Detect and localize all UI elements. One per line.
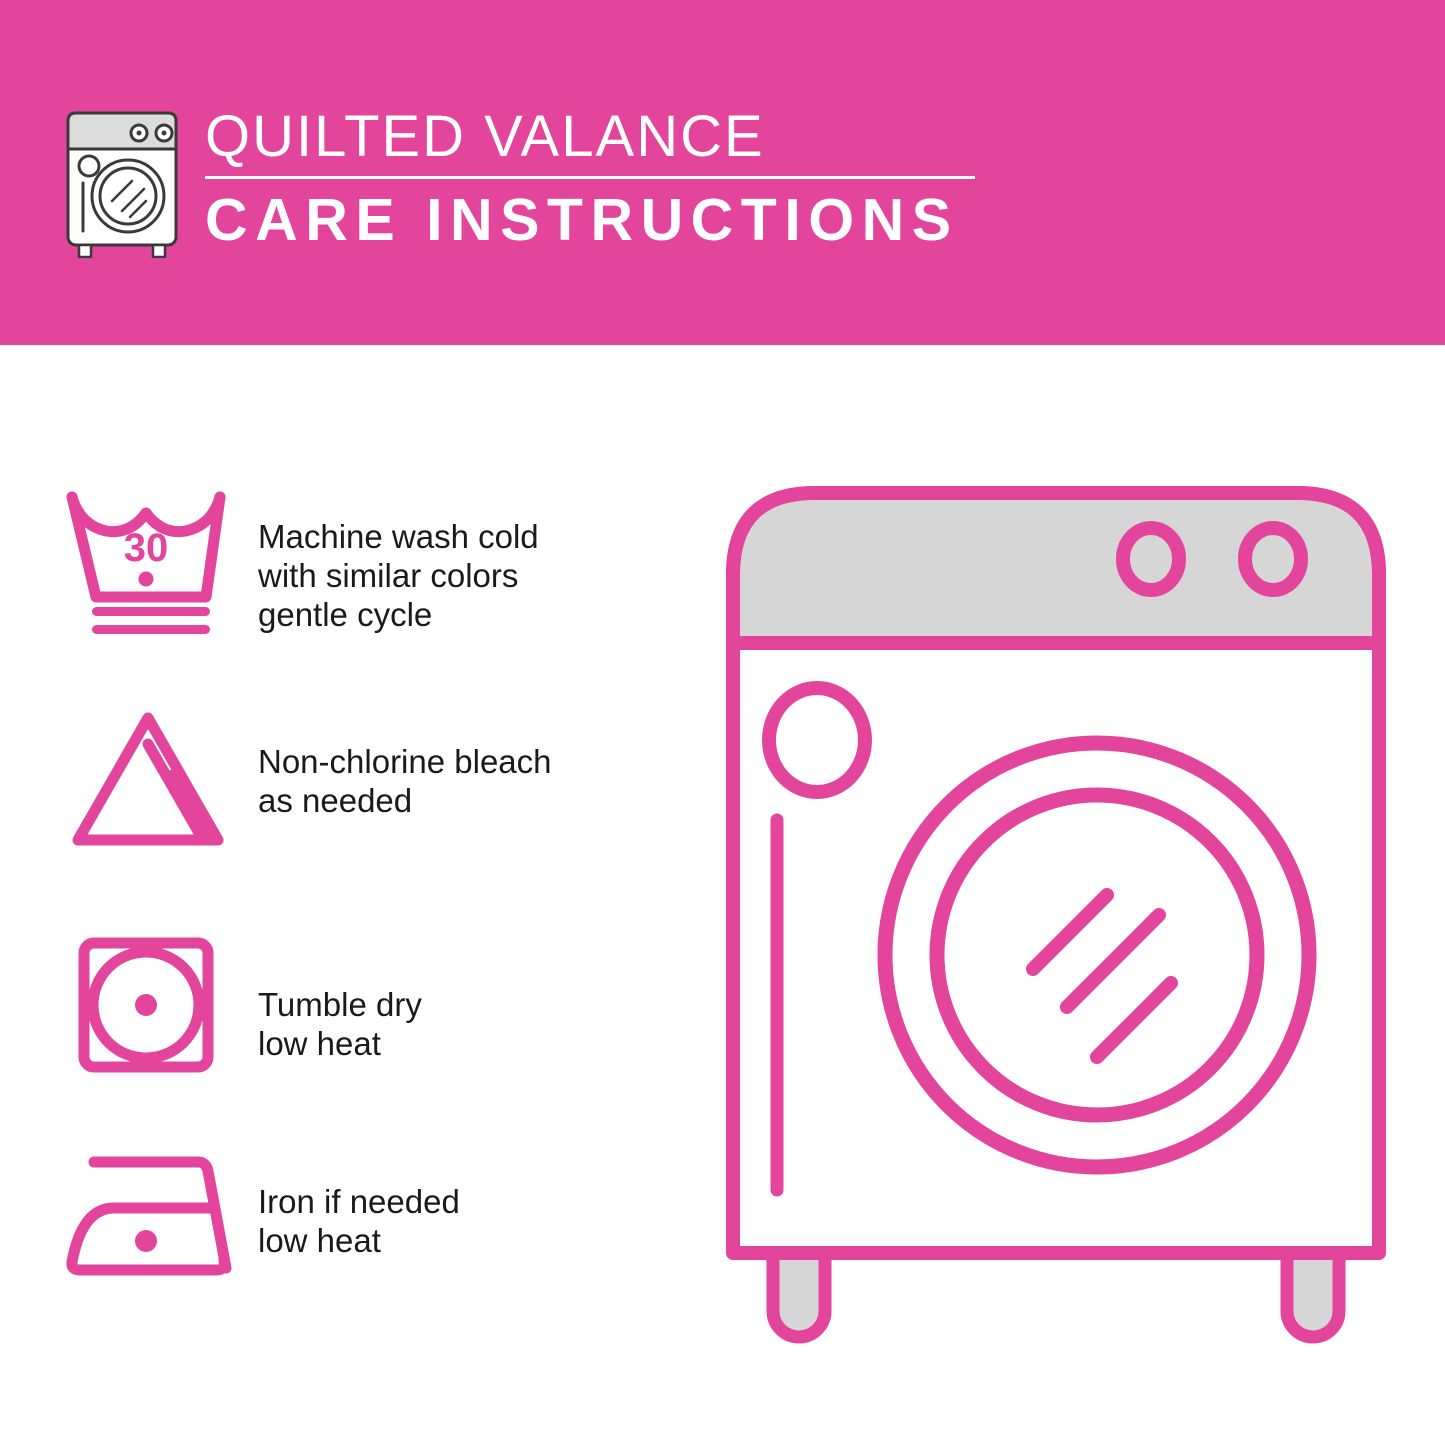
care-instructions-page: QUILTED VALANCE CARE INSTRUCTIONS 30 Mac… bbox=[0, 0, 1445, 1445]
machine-knob-right bbox=[1245, 528, 1301, 590]
front-load-washing-machine-illustration bbox=[715, 475, 1395, 1375]
care-row-machine-wash: 30 Machine wash cold with similar colors… bbox=[58, 485, 678, 640]
care-row-bleach: Non-chlorine bleach as needed bbox=[58, 700, 678, 855]
header-band: QUILTED VALANCE CARE INSTRUCTIONS bbox=[0, 0, 1445, 345]
page-subtitle: CARE INSTRUCTIONS bbox=[205, 187, 995, 253]
care-label-line: Machine wash cold bbox=[258, 517, 678, 556]
care-label-machine-wash: Machine wash cold with similar colors ge… bbox=[258, 485, 678, 634]
wash-temperature-label: 30 bbox=[124, 526, 169, 570]
care-label-iron: Iron if needed low heat bbox=[258, 1140, 678, 1260]
machine-detail-circle bbox=[769, 688, 865, 792]
care-row-iron: Iron if needed low heat bbox=[58, 1140, 678, 1295]
header-text-block: QUILTED VALANCE CARE INSTRUCTIONS bbox=[205, 104, 995, 253]
care-label-line: Tumble dry bbox=[258, 985, 678, 1024]
care-label-line: Iron if needed bbox=[258, 1182, 678, 1221]
care-label-line: low heat bbox=[258, 1024, 678, 1063]
care-label-line: with similar colors bbox=[258, 556, 678, 595]
care-row-tumble-dry: Tumble dry low heat bbox=[58, 925, 678, 1080]
wash-tub-30-icon: 30 bbox=[58, 485, 258, 640]
iron-low-heat-icon bbox=[58, 1140, 258, 1295]
non-chlorine-bleach-triangle-icon bbox=[58, 700, 258, 855]
title-divider bbox=[205, 176, 975, 179]
care-label-line: Non-chlorine bleach bbox=[258, 742, 678, 781]
care-label-line: as needed bbox=[258, 781, 678, 820]
machine-door-inner bbox=[937, 795, 1257, 1115]
care-label-line: gentle cycle bbox=[258, 595, 678, 634]
care-label-bleach: Non-chlorine bleach as needed bbox=[258, 700, 678, 820]
care-label-line: low heat bbox=[258, 1221, 678, 1260]
tumble-dry-low-icon bbox=[58, 925, 258, 1080]
care-label-tumble-dry: Tumble dry low heat bbox=[258, 925, 678, 1063]
washing-machine-icon bbox=[60, 103, 190, 258]
machine-knob-left bbox=[1123, 528, 1179, 590]
page-title: QUILTED VALANCE bbox=[205, 104, 995, 170]
